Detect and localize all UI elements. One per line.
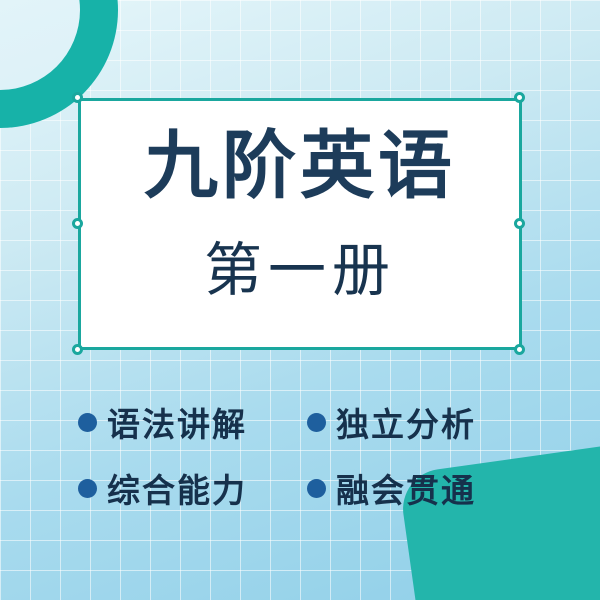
card-corner-dot-middle-left — [72, 218, 83, 229]
dot-icon — [307, 413, 326, 432]
dot-icon — [307, 479, 326, 498]
card-corner-dot-top-left — [72, 92, 83, 103]
sub-title: 第一册 — [81, 241, 519, 299]
title-card: 九阶英语 第一册 — [78, 98, 522, 350]
list-item: 语法讲解 — [78, 398, 301, 446]
list-item: 融会贯通 — [307, 464, 530, 512]
list-item: 综合能力 — [78, 464, 301, 512]
card-corner-dot-top-right — [514, 92, 525, 103]
dot-icon — [78, 413, 97, 432]
card-corner-dot-middle-right — [514, 218, 525, 229]
feature-list: 语法讲解 独立分析 综合能力 融会贯通 — [78, 398, 530, 512]
dot-icon — [78, 479, 97, 498]
card-corner-dot-bottom-right — [514, 344, 525, 355]
feature-label: 独立分析 — [336, 398, 476, 446]
feature-label: 语法讲解 — [107, 398, 247, 446]
list-item: 独立分析 — [307, 398, 530, 446]
card-corner-dot-bottom-left — [72, 344, 83, 355]
main-title: 九阶英语 — [81, 129, 519, 203]
poster-canvas: 九阶英语 第一册 语法讲解 独立分析 综合能力 融会贯通 — [0, 0, 600, 600]
feature-label: 综合能力 — [107, 464, 247, 512]
feature-label: 融会贯通 — [336, 464, 476, 512]
